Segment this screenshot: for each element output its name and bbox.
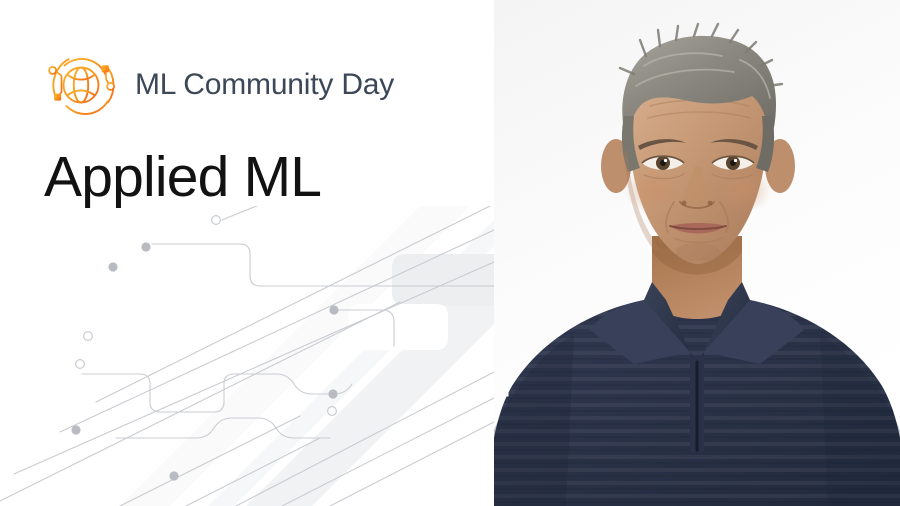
orbit-node-square-left [54, 94, 61, 101]
brand-name: ML Community Day [135, 70, 394, 100]
slide-content-panel: ML Community Day Applied ML [0, 0, 494, 506]
circuit-node-filled [71, 242, 338, 480]
orbit-node-ring-left [49, 67, 56, 74]
globe-network-icon [41, 45, 121, 125]
page-title: Applied ML [44, 148, 321, 208]
circuit-lines [0, 206, 494, 506]
speaker-headshot [494, 0, 900, 506]
orbit-node-ring-right [107, 83, 114, 90]
globe-shape [64, 68, 99, 103]
speaker-photo-panel [494, 0, 900, 506]
circuit-routed-traces [82, 244, 494, 438]
brand-lockup: ML Community Day [41, 45, 394, 125]
orbit-node-square-top [102, 65, 109, 72]
diagonal-band-shape [120, 206, 494, 506]
circuit-node-hollow [76, 216, 337, 416]
circuit-trace-decoration [0, 206, 494, 506]
presentation-slide: ML Community Day Applied ML [0, 0, 900, 506]
